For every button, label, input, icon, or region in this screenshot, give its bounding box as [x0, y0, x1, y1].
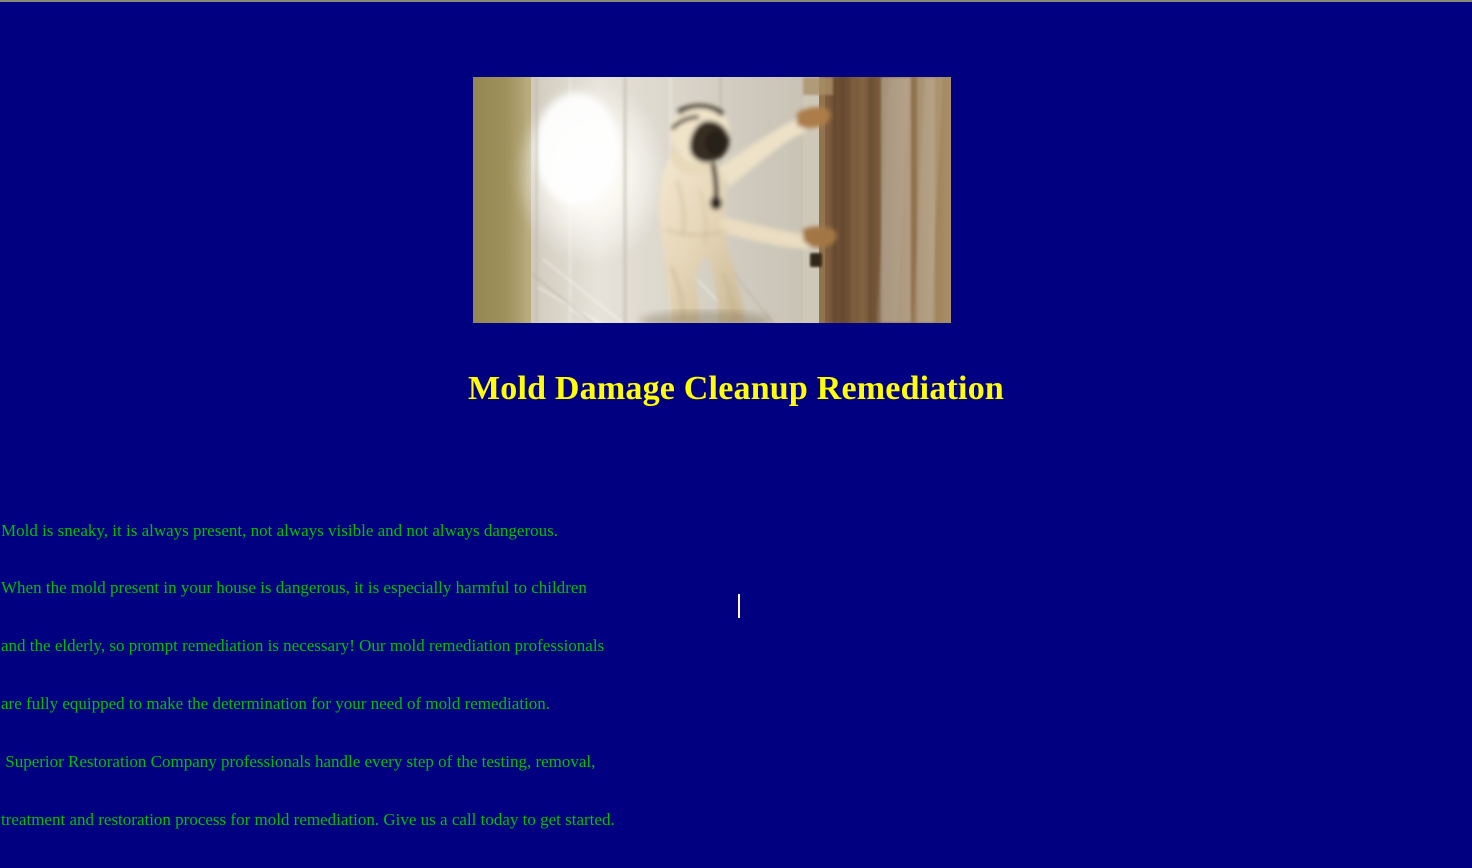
body-paragraph: Mold is sneaky, it is always present, no… [1, 482, 701, 868]
body-line-1: Mold is sneaky, it is always present, no… [1, 521, 701, 540]
text-cursor-caret[interactable] [738, 594, 740, 618]
body-line-6: treatment and restoration process for mo… [1, 810, 701, 829]
page-title: Mold Damage Cleanup Remediation [0, 368, 1472, 410]
hero-image-container [473, 77, 951, 323]
body-line-3: and the elderly, so prompt remediation i… [1, 636, 701, 655]
body-line-5: Superior Restoration Company professiona… [1, 752, 701, 771]
page-canvas: Mold Damage Cleanup Remediation Mold is … [0, 2, 1472, 620]
body-line-4: are fully equipped to make the determina… [1, 694, 701, 713]
mold-remediation-photo [473, 77, 951, 323]
body-line-2: When the mold present in your house is d… [1, 578, 701, 597]
